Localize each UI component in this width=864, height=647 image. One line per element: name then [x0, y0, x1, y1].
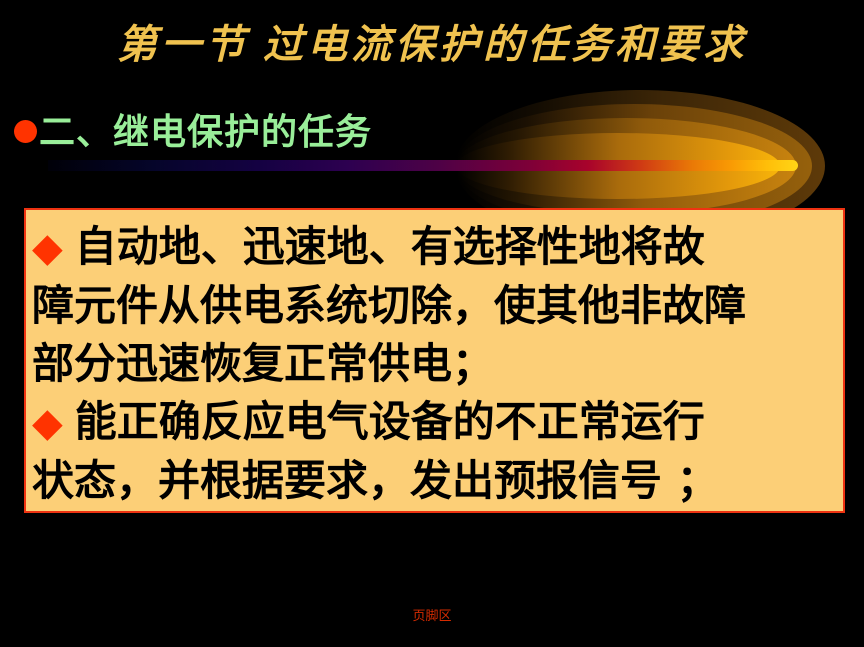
page-title: 第一节 过电流保护的任务和要求 [0, 12, 864, 70]
content-line-text: 障元件从供电系统切除，使其他非故障 [32, 281, 746, 330]
content-line: 状态，并根据要求，发出预报信号 ； [32, 452, 837, 510]
presentation-slide: 第一节 过电流保护的任务和要求 二、继电保护的任务 ◆自动地、迅速地、有选择性地… [0, 0, 864, 647]
content-line-text: 能正确反应电气设备的不正常运行 [75, 397, 705, 446]
content-line: 障元件从供电系统切除，使其他非故障 [32, 277, 837, 335]
gradient-divider [48, 160, 798, 171]
diamond-bullet-icon: ◆ [32, 225, 75, 271]
content-line-text: 状态，并根据要求，发出预报信号 ； [32, 456, 719, 505]
bullet-dot-icon [14, 120, 37, 143]
section-heading-label: 二、继电保护的任务 [39, 103, 372, 155]
content-line: ◆能正确反应电气设备的不正常运行 [32, 393, 837, 452]
content-line-text: 部分迅速恢复正常供电； [32, 339, 494, 388]
diamond-bullet-icon: ◆ [32, 400, 75, 446]
content-line: 部分迅速恢复正常供电； [32, 335, 837, 393]
section-heading: 二、继电保护的任务 [14, 106, 372, 152]
footer-placeholder: 页脚区 [0, 605, 864, 624]
content-panel: ◆自动地、迅速地、有选择性地将故 障元件从供电系统切除，使其他非故障 部分迅速恢… [24, 208, 845, 513]
content-line: ◆自动地、迅速地、有选择性地将故 [32, 218, 837, 277]
content-line-text: 自动地、迅速地、有选择性地将故 [75, 222, 705, 271]
